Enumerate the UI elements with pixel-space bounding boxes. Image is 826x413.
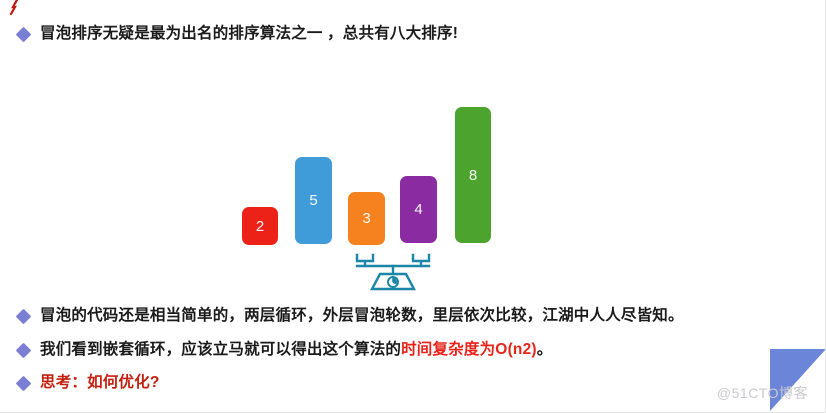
bar-item[interactable]: 5 [295,157,332,244]
diamond-bullet-icon [16,27,32,43]
red-tick-mark-icon [8,0,22,16]
bullet-line-complexity: 我们看到嵌套循环，应该立马就可以得出这个算法的时间复杂度为O(n2)。 [18,341,552,360]
bullet-code-text: 冒泡的代码还是相当简单的，两层循环，外层冒泡轮数，里层依次比较，江湖中人人尽皆知… [40,307,684,326]
bar-item[interactable]: 8 [455,107,491,243]
bar-item[interactable]: 3 [348,192,385,245]
diamond-bullet-icon [16,376,32,392]
bar-value-label: 8 [469,167,477,184]
bullet-intro-text: 冒泡排序无疑是最为出名的排序算法之一 ，总共有八大排序! [40,25,458,44]
bar-value-label: 3 [362,210,370,227]
bullet-think-text: 思考：如何优化? [40,374,160,393]
bar-value-label: 5 [309,192,317,209]
balance-scale-icon[interactable] [352,252,436,292]
bullet-line-think: 思考：如何优化? [18,374,160,393]
bar-value-label: 4 [414,201,422,218]
bullet-line-intro: 冒泡排序无疑是最为出名的排序算法之一 ，总共有八大排序! [18,25,458,44]
bar-item[interactable]: 2 [242,207,278,245]
complexity-highlight: 时间复杂度为O(n2) [401,341,537,358]
bar-item[interactable]: 4 [400,176,437,243]
bullet-line-code: 冒泡的代码还是相当简单的，两层循环，外层冒泡轮数，里层依次比较，江湖中人人尽皆知… [18,307,684,326]
watermark-label: @51CTO博客 [717,383,808,403]
bullet-complexity-text: 我们看到嵌套循环，应该立马就可以得出这个算法的时间复杂度为O(n2)。 [40,341,552,360]
diamond-bullet-icon [16,343,32,359]
bar-value-label: 2 [256,218,264,235]
slide-canvas: 冒泡排序无疑是最为出名的排序算法之一 ，总共有八大排序! 2 5 3 4 8 [0,0,826,413]
complexity-suffix: 。 [537,341,553,358]
complexity-prefix: 我们看到嵌套循环，应该立马就可以得出这个算法的 [40,341,401,358]
diamond-bullet-icon [16,309,32,325]
